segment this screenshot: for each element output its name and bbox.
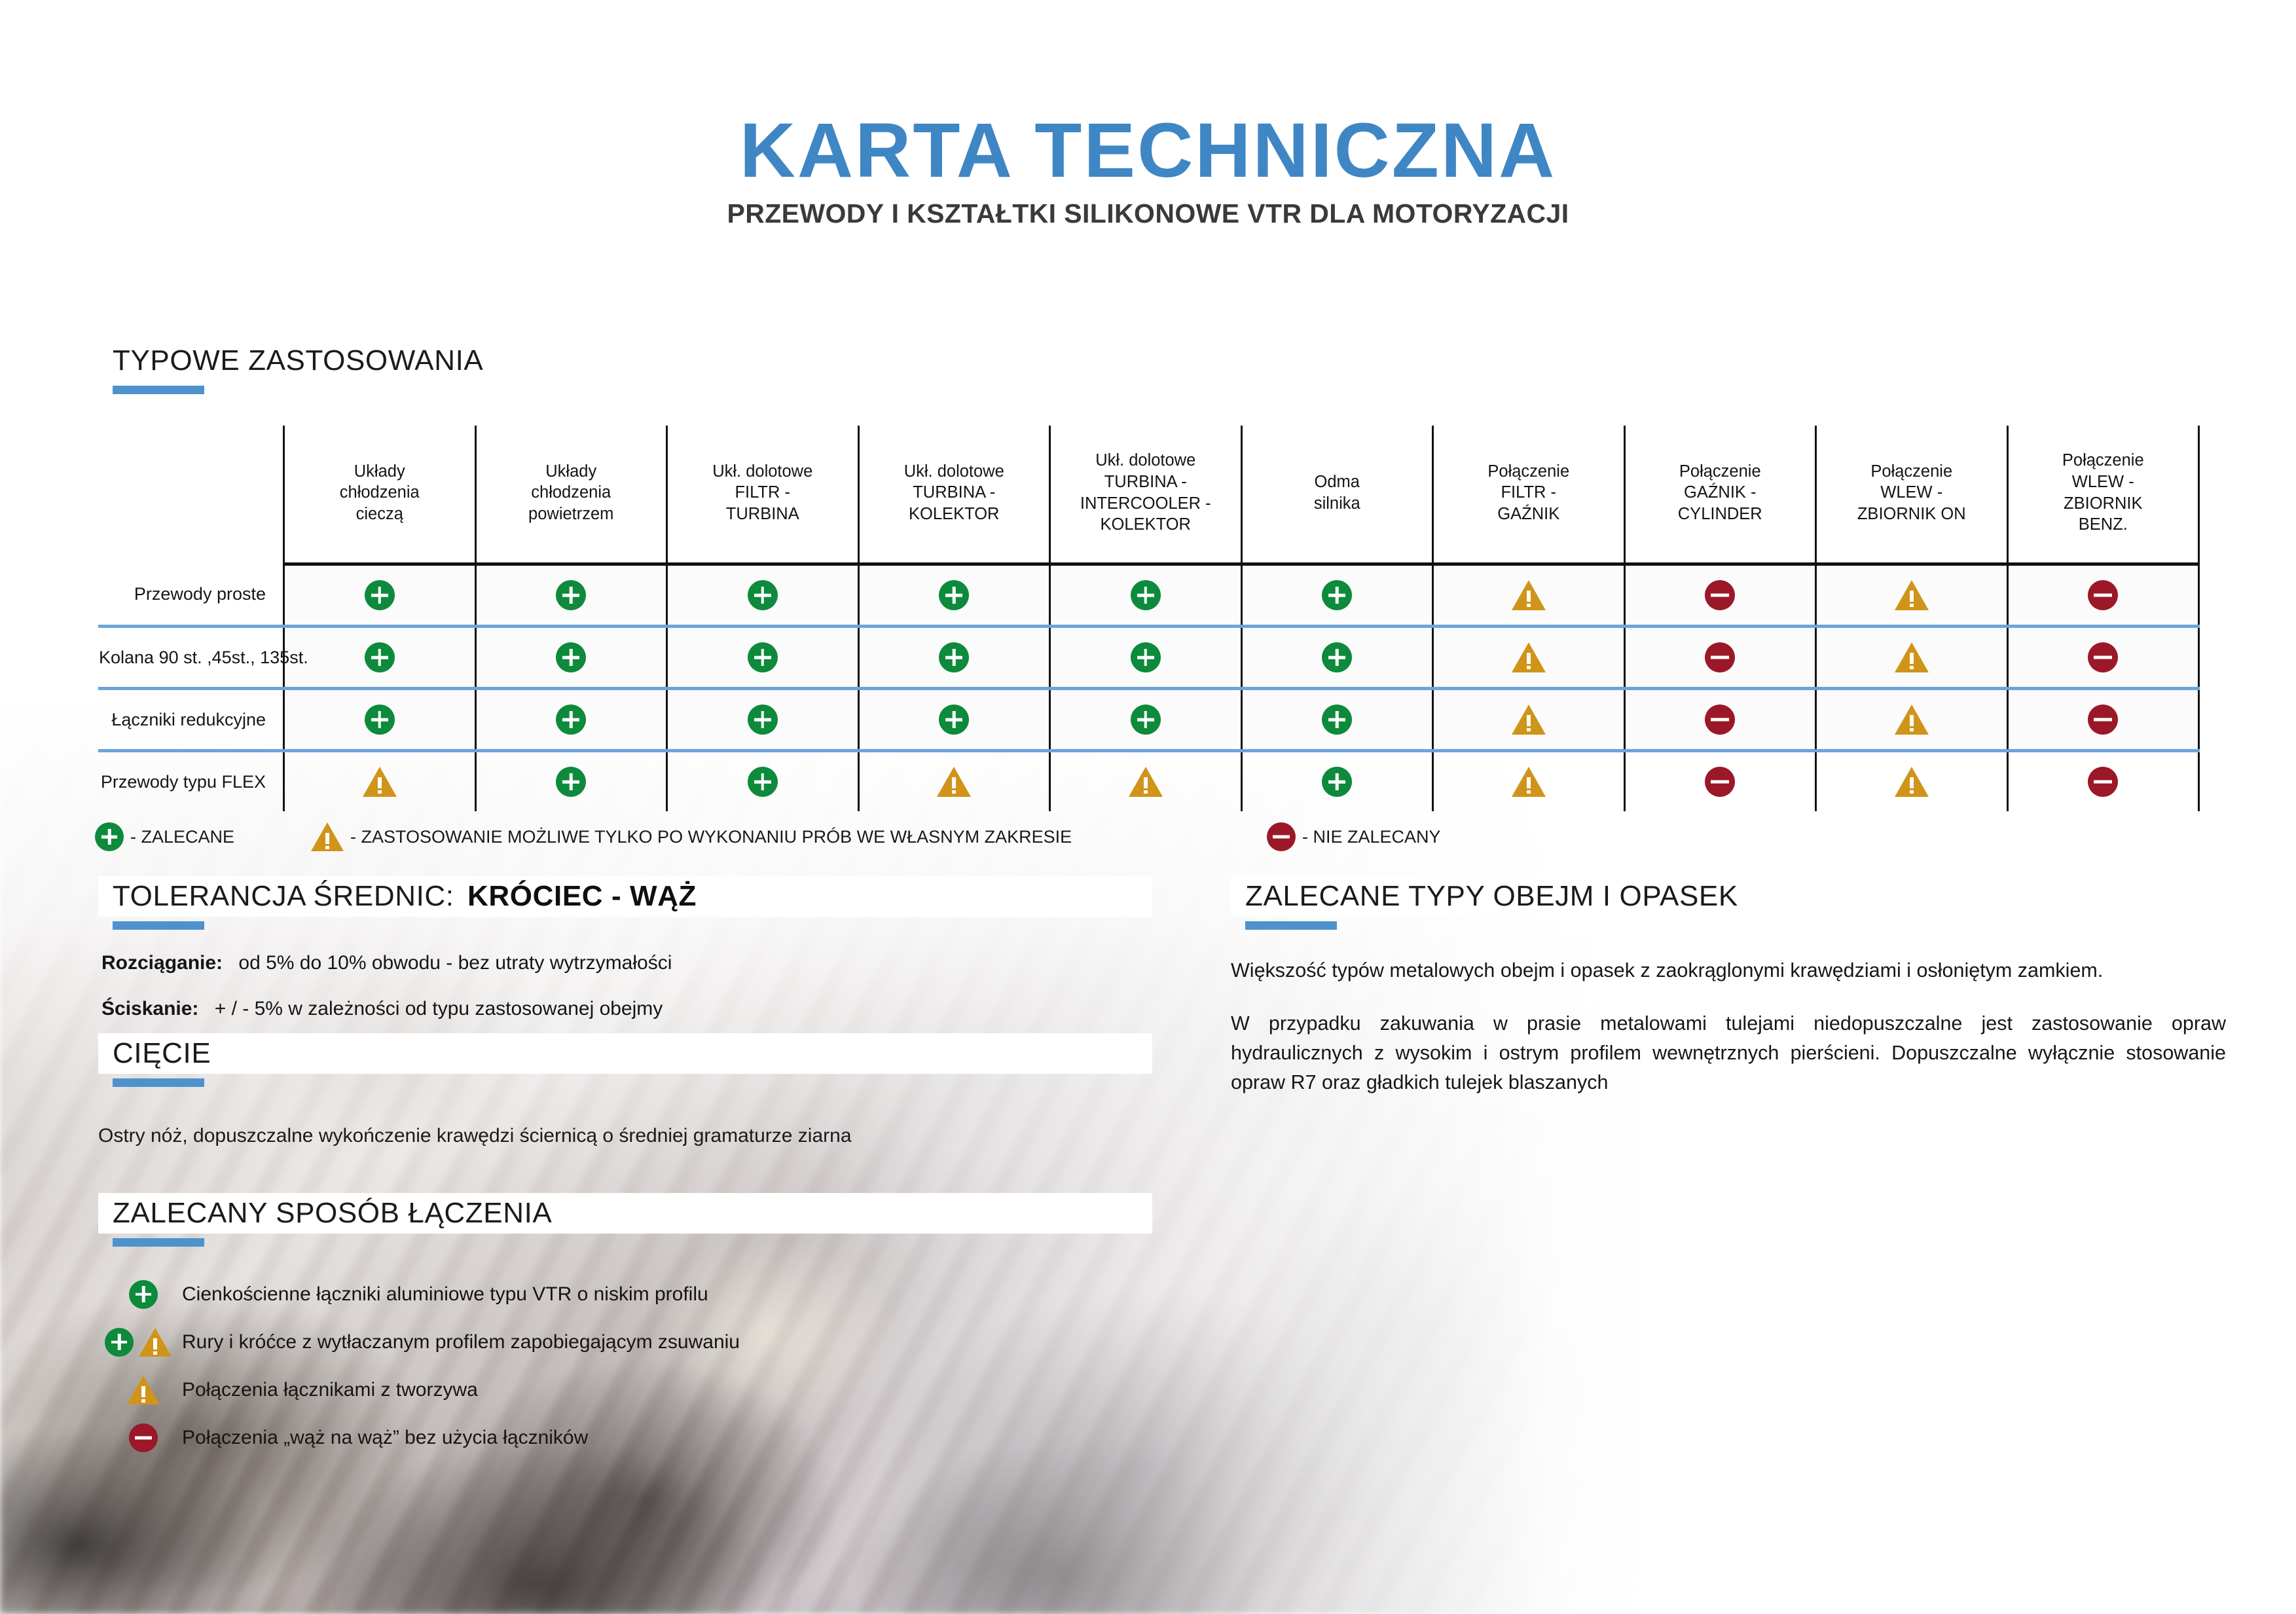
recommended-plus-icon: [1131, 705, 1161, 735]
warning-triangle-icon: [1895, 767, 1929, 797]
section-heading-applications: TYPOWE ZASTOSOWANIA: [98, 340, 1152, 394]
recommended-plus-icon: [556, 705, 586, 735]
table-cell-rating: [1050, 689, 1242, 751]
recommended-plus-icon: [939, 580, 969, 610]
list-item-label: Rury i króćce z wytłaczanym profilem zap…: [182, 1331, 740, 1353]
warning-triangle-icon: [139, 1328, 172, 1357]
table-cell-rating: [284, 627, 476, 689]
table-cell-rating: [1816, 751, 2008, 812]
list-item-icons: [105, 1280, 182, 1309]
table-column-header: PołączenieGAŹNIK -CYLINDER: [1624, 426, 1816, 564]
not-recommended-minus-icon: [2088, 580, 2118, 610]
tolerance-compress-label: Ściskanie:: [101, 998, 198, 1019]
table-cell-rating: [1624, 689, 1816, 751]
table-row: Przewody typu FLEX: [98, 751, 2199, 812]
table-cell-rating: [284, 751, 476, 812]
table-column-header-line: FILTR -: [670, 482, 855, 504]
not-recommended-minus-icon: [1267, 822, 1296, 851]
table-cell-rating: [1050, 627, 1242, 689]
table-cell-rating: [284, 689, 476, 751]
legend-item-label: - ZALECANE: [130, 827, 234, 847]
table-cell-rating: [1433, 751, 1625, 812]
tolerance-stretch: Rozciąganie: od 5% do 10% obwodu - bez u…: [101, 952, 672, 974]
table-cell-rating: [1433, 689, 1625, 751]
recommended-plus-icon: [1322, 767, 1352, 797]
recommended-plus-icon: [556, 580, 586, 610]
warning-triangle-icon: [127, 1376, 160, 1404]
legend-item-label: - NIE ZALECANY: [1302, 827, 1441, 847]
table-cell-rating: [1624, 751, 1816, 812]
list-item-icons: [105, 1328, 182, 1357]
table-body: Przewody prosteKolana 90 st. ,45st., 135…: [98, 564, 2199, 812]
table-cell-rating: [475, 564, 667, 627]
warning-triangle-icon: [1512, 580, 1546, 610]
table-cell-rating: [667, 689, 859, 751]
table-column-header-line: Połączenie: [1819, 461, 2004, 483]
section-title-tolerance-bold: KRÓCIEC - WĄŻ: [467, 880, 697, 912]
warning-triangle-icon: [1895, 642, 1929, 672]
table-column-header-line: KOLEKTOR: [862, 504, 1047, 525]
table-column-header: Odmasilnika: [1241, 426, 1433, 564]
table-column-header-line: Odma: [1245, 471, 1430, 493]
table-column-header-line: TURBINA: [670, 504, 855, 525]
table-cell-rating: [1433, 627, 1625, 689]
recommended-plus-icon: [129, 1280, 158, 1309]
page-subtitle: PRZEWODY I KSZTAŁTKI SILIKONOWE VTR DLA …: [0, 199, 2296, 229]
table-cell-rating: [475, 751, 667, 812]
table-column-header-line: FILTR -: [1436, 482, 1621, 504]
table-cell-rating: [1816, 564, 2008, 627]
table-header-row: UkładychłodzeniaciecząUkładychłodzeniapo…: [98, 426, 2199, 564]
section-underline-bar: [113, 1238, 204, 1247]
warning-triangle-icon: [1512, 705, 1546, 735]
list-item-label: Połączenia łącznikami z tworzywa: [182, 1379, 478, 1401]
table-cell-rating: [2007, 564, 2199, 627]
warning-triangle-icon: [1895, 705, 1929, 735]
table-column-header-line: Połączenie: [2011, 450, 2196, 471]
table-column-header-line: Ukł. dolotowe: [1053, 450, 1238, 471]
page-title: KARTA TECHNICZNA: [0, 111, 2296, 190]
table-row: Kolana 90 st. ,45st., 135st.: [98, 627, 2199, 689]
table-column-header-line: WLEW -: [1819, 482, 2004, 504]
table-column-header: PołączenieFILTR -GAŹNIK: [1433, 426, 1625, 564]
table-column-header: Ukł. dolotoweTURBINA -INTERCOOLER -KOLEK…: [1050, 426, 1242, 564]
tolerance-compress-value: + / - 5% w zależności od typu zastosowan…: [215, 998, 663, 1019]
table-cell-rating: [1624, 627, 1816, 689]
applications-table: UkładychłodzeniaciecząUkładychłodzeniapo…: [98, 426, 2200, 811]
table-column-header: Układychłodzeniapowietrzem: [475, 426, 667, 564]
tolerance-compress: Ściskanie: + / - 5% w zależności od typu…: [101, 998, 663, 1020]
table-column-header-line: chłodzenia: [287, 482, 472, 504]
table-column-header-line: cieczą: [287, 504, 472, 525]
table-column-header-line: INTERCOOLER -: [1053, 493, 1238, 515]
table-column-header-line: chłodzenia: [479, 482, 664, 504]
not-recommended-minus-icon: [129, 1423, 158, 1452]
legend-item: - NIE ZALECANY: [1267, 817, 1441, 856]
cutting-description: Ostry nóż, dopuszczalne wykończenie kraw…: [98, 1121, 1146, 1150]
table-row-label: Kolana 90 st. ,45st., 135st.: [98, 627, 284, 689]
warning-triangle-icon: [311, 822, 344, 851]
table-row-label: Łączniki redukcyjne: [98, 689, 284, 751]
not-recommended-minus-icon: [1705, 580, 1735, 610]
list-item-icons: [105, 1376, 182, 1404]
table-cell-rating: [284, 564, 476, 627]
table-column-header-line: BENZ.: [2011, 514, 2196, 536]
table-cell-rating: [858, 627, 1050, 689]
table-cell-rating: [1433, 564, 1625, 627]
table-row-label: Przewody typu FLEX: [98, 751, 284, 812]
list-item-icons: [105, 1423, 182, 1452]
table-cell-rating: [1050, 564, 1242, 627]
table-column-header: PołączenieWLEW -ZBIORNIKBENZ.: [2007, 426, 2199, 564]
section-title-applications: TYPOWE ZASTOSOWANIA: [113, 344, 483, 376]
recommended-plus-icon: [1322, 705, 1352, 735]
list-item-label: Połączenia „wąż na wąż” bez użycia łączn…: [182, 1427, 588, 1449]
table-cell-rating: [1241, 689, 1433, 751]
table-column-header-line: TURBINA -: [1053, 471, 1238, 493]
table-column-header-line: KOLEKTOR: [1053, 514, 1238, 536]
list-item: Połączenia łącznikami z tworzywa: [105, 1366, 989, 1414]
section-underline-bar: [113, 1078, 204, 1087]
recommended-plus-icon: [105, 1328, 134, 1357]
section-underline-bar: [1245, 921, 1337, 930]
warning-triangle-icon: [937, 767, 971, 797]
not-recommended-minus-icon: [2088, 642, 2118, 672]
not-recommended-minus-icon: [1705, 705, 1735, 735]
legend-item: - ZASTOSOWANIE MOŻLIWE TYLKO PO WYKONANI…: [311, 817, 1072, 856]
table-cell-rating: [1816, 627, 2008, 689]
table-column-header-line: ZBIORNIK: [2011, 493, 2196, 515]
table-column-header-line: Połączenie: [1436, 461, 1621, 483]
table-column-header-line: Ukł. dolotowe: [862, 461, 1047, 483]
list-item: Rury i króćce z wytłaczanym profilem zap…: [105, 1318, 989, 1366]
legend: - ZALECANE- ZASTOSOWANIE MOŻLIWE TYLKO P…: [95, 817, 1601, 856]
recommended-plus-icon: [1322, 580, 1352, 610]
clamps-paragraph-1: Większość typów metalowych obejm i opase…: [1231, 956, 2226, 985]
section-underline-bar: [113, 921, 204, 930]
legend-item-label: - ZASTOSOWANIE MOŻLIWE TYLKO PO WYKONANI…: [350, 827, 1072, 847]
tolerance-stretch-value: od 5% do 10% obwodu - bez utraty wytrzym…: [238, 952, 672, 974]
table-cell-rating: [1816, 689, 2008, 751]
table-cell-rating: [1241, 627, 1433, 689]
table-cell-rating: [667, 627, 859, 689]
recommended-plus-icon: [939, 642, 969, 672]
section-heading-joining: ZALECANY SPOSÓB ŁĄCZENIA: [98, 1193, 1152, 1247]
section-underline-bar: [113, 386, 204, 394]
list-item: Cienkościenne łączniki aluminiowe typu V…: [105, 1270, 989, 1318]
table-cell-rating: [475, 689, 667, 751]
table-corner-cell: [98, 426, 284, 564]
table-column-header-line: silnika: [1245, 493, 1430, 515]
recommended-plus-icon: [748, 705, 778, 735]
table-cell-rating: [1624, 564, 1816, 627]
recommended-plus-icon: [365, 705, 395, 735]
legend-item: - ZALECANE: [95, 817, 234, 856]
recommended-plus-icon: [1131, 642, 1161, 672]
table-column-header: Układychłodzeniacieczą: [284, 426, 476, 564]
clamps-paragraph-2: W przypadku zakuwania w prasie metalowam…: [1231, 1009, 2226, 1097]
table-cell-rating: [858, 564, 1050, 627]
table-cell-rating: [1241, 564, 1433, 627]
list-item-label: Cienkościenne łączniki aluminiowe typu V…: [182, 1283, 708, 1306]
recommended-plus-icon: [365, 642, 395, 672]
table-column-header-line: GAŹNIK: [1436, 504, 1621, 525]
table-row-label: Przewody proste: [98, 564, 284, 627]
table-column-header-line: Połączenie: [1628, 461, 1813, 483]
recommended-plus-icon: [95, 822, 124, 851]
recommended-plus-icon: [939, 705, 969, 735]
section-title-clamps: ZALECANE TYPY OBEJM I OPASEK: [1245, 880, 1738, 912]
table-column-header-line: WLEW -: [2011, 471, 2196, 493]
table-column-header-line: TURBINA -: [862, 482, 1047, 504]
table-row: Łączniki redukcyjne: [98, 689, 2199, 751]
not-recommended-minus-icon: [1705, 767, 1735, 797]
table-column-header-line: powietrzem: [479, 504, 664, 525]
table-column-header-line: ZBIORNIK ON: [1819, 504, 2004, 525]
recommended-plus-icon: [365, 580, 395, 610]
table-cell-rating: [858, 751, 1050, 812]
table-cell-rating: [858, 689, 1050, 751]
clamps-text-block: Większość typów metalowych obejm i opase…: [1231, 956, 2226, 1122]
table-cell-rating: [2007, 689, 2199, 751]
recommended-plus-icon: [748, 642, 778, 672]
table-cell-rating: [667, 564, 859, 627]
warning-triangle-icon: [363, 767, 397, 797]
section-title-cutting: CIĘCIE: [113, 1037, 211, 1069]
table-cell-rating: [2007, 627, 2199, 689]
list-item: Połączenia „wąż na wąż” bez użycia łączn…: [105, 1414, 989, 1461]
not-recommended-minus-icon: [2088, 767, 2118, 797]
table-column-header-line: CYLINDER: [1628, 504, 1813, 525]
table-cell-rating: [667, 751, 859, 812]
warning-triangle-icon: [1512, 642, 1546, 672]
table-cell-rating: [2007, 751, 2199, 812]
table-row: Przewody proste: [98, 564, 2199, 627]
warning-triangle-icon: [1512, 767, 1546, 797]
section-heading-tolerance: TOLERANCJA ŚREDNIC: KRÓCIEC - WĄŻ: [98, 876, 1152, 930]
section-title-joining: ZALECANY SPOSÓB ŁĄCZENIA: [113, 1197, 552, 1229]
table-column-header: Ukł. dolotoweFILTR -TURBINA: [667, 426, 859, 564]
warning-triangle-icon: [1129, 767, 1163, 797]
warning-triangle-icon: [1895, 580, 1929, 610]
not-recommended-minus-icon: [1705, 642, 1735, 672]
table-cell-rating: [475, 627, 667, 689]
section-title-tolerance: TOLERANCJA ŚREDNIC:: [113, 880, 454, 912]
joining-methods-list: Cienkościenne łączniki aluminiowe typu V…: [105, 1270, 989, 1461]
table-column-header-line: Układy: [287, 461, 472, 483]
recommended-plus-icon: [748, 767, 778, 797]
tolerance-stretch-label: Rozciąganie:: [101, 952, 223, 974]
table-cell-rating: [1241, 751, 1433, 812]
table-cell-rating: [1050, 751, 1242, 812]
recommended-plus-icon: [556, 767, 586, 797]
table-column-header-line: Ukł. dolotowe: [670, 461, 855, 483]
not-recommended-minus-icon: [2088, 705, 2118, 735]
document-header: KARTA TECHNICZNA PRZEWODY I KSZTAŁTKI SI…: [0, 111, 2296, 229]
section-heading-cutting: CIĘCIE: [98, 1033, 1152, 1087]
recommended-plus-icon: [1322, 642, 1352, 672]
recommended-plus-icon: [1131, 580, 1161, 610]
table-column-header-line: Układy: [479, 461, 664, 483]
section-heading-clamps: ZALECANE TYPY OBEJM I OPASEK: [1231, 876, 2226, 930]
table-column-header: PołączenieWLEW -ZBIORNIK ON: [1816, 426, 2008, 564]
table-column-header: Ukł. dolotoweTURBINA -KOLEKTOR: [858, 426, 1050, 564]
recommended-plus-icon: [556, 642, 586, 672]
table-column-header-line: GAŹNIK -: [1628, 482, 1813, 504]
recommended-plus-icon: [748, 580, 778, 610]
